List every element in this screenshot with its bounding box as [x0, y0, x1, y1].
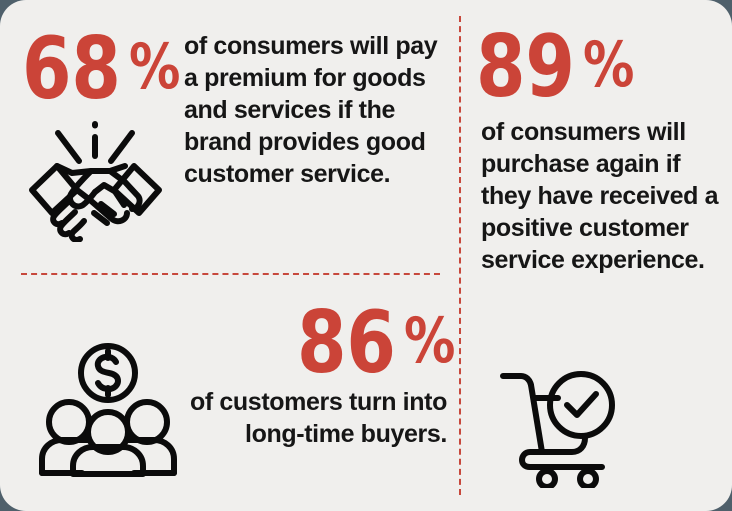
infographic-card: 68% of consumers will pay a premium for … — [0, 0, 732, 511]
stat-89-number: 89 — [476, 24, 575, 110]
stat-89-percent: 89% — [476, 24, 639, 110]
stat-86-description: of customers turn into long-time buyers. — [170, 386, 447, 450]
people-money-icon — [38, 342, 178, 477]
stat-86-percent-symbol: % — [404, 310, 455, 372]
horizontal-dashed-divider — [21, 273, 440, 275]
stat-68-percent: 68% — [22, 26, 185, 112]
stat-86-percent: 86% — [297, 300, 460, 386]
stat-89-description: of consumers will purchase again if they… — [481, 116, 725, 276]
vertical-dashed-divider — [459, 16, 461, 495]
shopping-cart-check-icon — [500, 368, 625, 488]
stat-68-number: 68 — [22, 26, 121, 112]
stat-68-description: of consumers will pay a premium for good… — [184, 30, 446, 190]
handshake-icon — [28, 120, 163, 242]
stat-68-percent-symbol: % — [129, 36, 180, 98]
stat-89-percent-symbol: % — [583, 34, 634, 96]
stat-86-number: 86 — [297, 300, 396, 386]
